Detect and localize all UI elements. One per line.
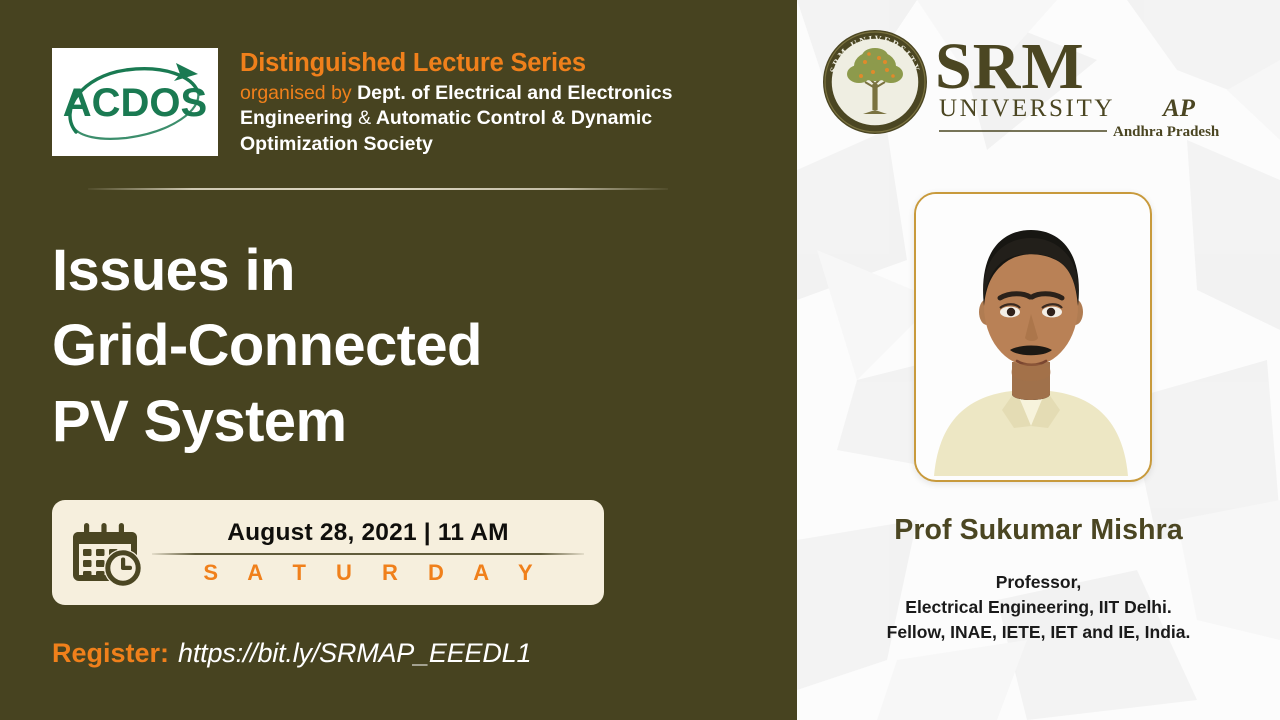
right-panel: SRM UNIVERSITY AP: [797, 0, 1280, 720]
srm-subtitle-university: UNIVERSITY: [939, 95, 1115, 122]
organiser-block: organised by Dept. of Electrical and Ele…: [240, 81, 720, 159]
register-label: Register:: [52, 638, 169, 669]
acdos-logo: ACDOS: [52, 48, 218, 156]
series-title: Distinguished Lecture Series: [240, 49, 720, 78]
lecture-title-line-2: Grid-Connected: [52, 308, 752, 383]
speaker-credential-line-3: Fellow, INAE, IETE, IET and IE, India.: [797, 620, 1280, 645]
speaker-credentials: Professor, Electrical Engineering, IIT D…: [797, 570, 1280, 645]
organised-by-label: organised by: [240, 82, 352, 104]
date-time-text: August 28, 2021 | 11 AM: [152, 519, 584, 547]
header-text-block: Distinguished Lecture Series organised b…: [240, 48, 720, 158]
speaker-name: Prof Sukumar Mishra: [797, 514, 1280, 547]
organiser-line-2b: Automatic: [376, 107, 471, 129]
srm-seal-icon: SRM UNIVERSITY AP: [823, 30, 927, 134]
srm-subtitle-ap: AP: [1161, 95, 1196, 122]
speaker-credential-line-1: Professor,: [797, 570, 1280, 595]
lecture-title-line-1: Issues in: [52, 233, 752, 308]
page-title: Issues in Grid-Connected PV System: [52, 233, 752, 459]
organiser-ampersand: &: [358, 107, 371, 129]
weekday-text: S A T U R D A Y: [152, 560, 584, 586]
speaker-portrait: [914, 192, 1152, 482]
date-card-rule: [152, 553, 584, 555]
calendar-clock-icon: [70, 515, 146, 591]
date-text-group: August 28, 2021 | 11 AM S A T U R D A Y: [152, 519, 590, 586]
header-divider: [88, 188, 668, 190]
srm-tagline: Andhra Pradesh: [1113, 124, 1220, 140]
registration-link[interactable]: https://bit.ly/SRMAP_EEEDL1: [178, 638, 531, 669]
acdos-wordmark: ACDOS: [63, 81, 207, 125]
left-panel: ACDOS Distinguished Lecture Series organ…: [0, 0, 797, 720]
srm-wordmark: SRM: [935, 30, 1085, 103]
date-time-card: August 28, 2021 | 11 AM S A T U R D A Y: [52, 500, 604, 605]
registration-row[interactable]: Register: https://bit.ly/SRMAP_EEEDL1: [52, 638, 531, 669]
srm-university-logo: SRM UNIVERSITY AP: [817, 26, 1260, 144]
lecture-title-line-3: PV System: [52, 384, 752, 459]
event-poster: ACDOS Distinguished Lecture Series organ…: [0, 0, 1280, 720]
organiser-line-1: Dept. of Electrical and: [357, 82, 562, 104]
speaker-credential-line-2: Electrical Engineering, IIT Delhi.: [797, 595, 1280, 620]
poster-header: ACDOS Distinguished Lecture Series organ…: [52, 48, 720, 158]
